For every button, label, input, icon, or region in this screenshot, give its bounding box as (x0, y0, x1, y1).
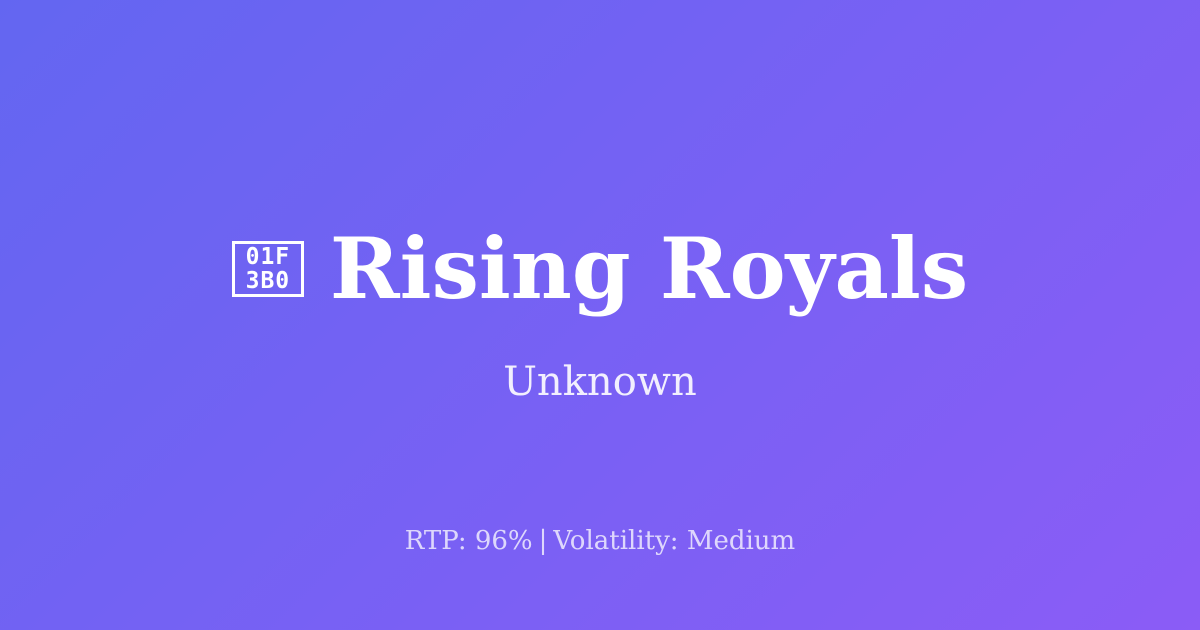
game-meta-line: RTP: 96%|Volatility: Medium (0, 525, 1200, 557)
emoji-codepoint-top: 01F (246, 245, 291, 269)
rtp-label: RTP: 96% (405, 526, 533, 556)
meta-separator: | (533, 526, 554, 556)
slot-machine-emoji-icon: 01F 3B0 (232, 241, 304, 297)
og-share-card: 01F 3B0 Rising Royals Unknown RTP: 96%|V… (0, 0, 1200, 630)
provider-subtitle: Unknown (503, 360, 697, 404)
title-row: 01F 3B0 Rising Royals (0, 226, 1200, 312)
volatility-label: Volatility: Medium (553, 526, 795, 556)
page-title: Rising Royals (330, 226, 968, 312)
emoji-codepoint-bottom: 3B0 (246, 269, 291, 293)
